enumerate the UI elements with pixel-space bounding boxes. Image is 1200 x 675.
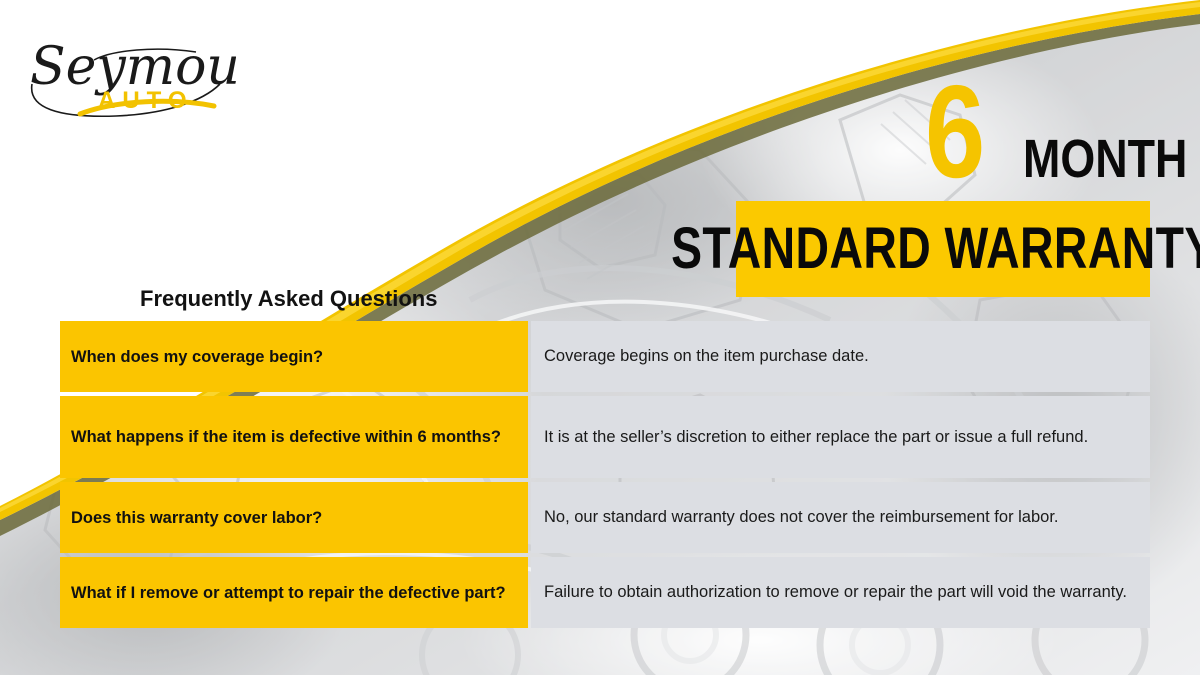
faq-answer-cell: No, our standard warranty does not cover… [531, 482, 1150, 553]
duration-number: 6 [925, 66, 984, 198]
seymour-auto-logo: Seymour AUTO [24, 22, 234, 122]
faq-question-cell: What happens if the item is defective wi… [60, 396, 528, 478]
faq-table: When does my coverage begin? Coverage be… [60, 321, 1150, 628]
faq-answer-cell: Coverage begins on the item purchase dat… [531, 321, 1150, 392]
warranty-duration-group: 6 MONTH [925, 74, 1165, 194]
faq-answer-cell: It is at the seller’s discretion to eith… [531, 396, 1150, 478]
faq-heading: Frequently Asked Questions [140, 287, 437, 311]
standard-warranty-banner: STANDARD WARRANTY [736, 201, 1150, 297]
faq-question-cell: When does my coverage begin? [60, 321, 528, 392]
duration-unit-label: MONTH [1023, 132, 1187, 186]
warranty-slide: Seymour AUTO 6 MONTH STANDARD WARRANTY F… [0, 0, 1200, 675]
table-row: What happens if the item is defective wi… [60, 396, 1150, 478]
table-row: Does this warranty cover labor? No, our … [60, 482, 1150, 553]
faq-question-cell: Does this warranty cover labor? [60, 482, 528, 553]
standard-warranty-title: STANDARD WARRANTY [671, 220, 1200, 278]
faq-question-cell: What if I remove or attempt to repair th… [60, 557, 528, 628]
table-row: What if I remove or attempt to repair th… [60, 557, 1150, 628]
table-row: When does my coverage begin? Coverage be… [60, 321, 1150, 392]
faq-answer-cell: Failure to obtain authorization to remov… [531, 557, 1150, 628]
